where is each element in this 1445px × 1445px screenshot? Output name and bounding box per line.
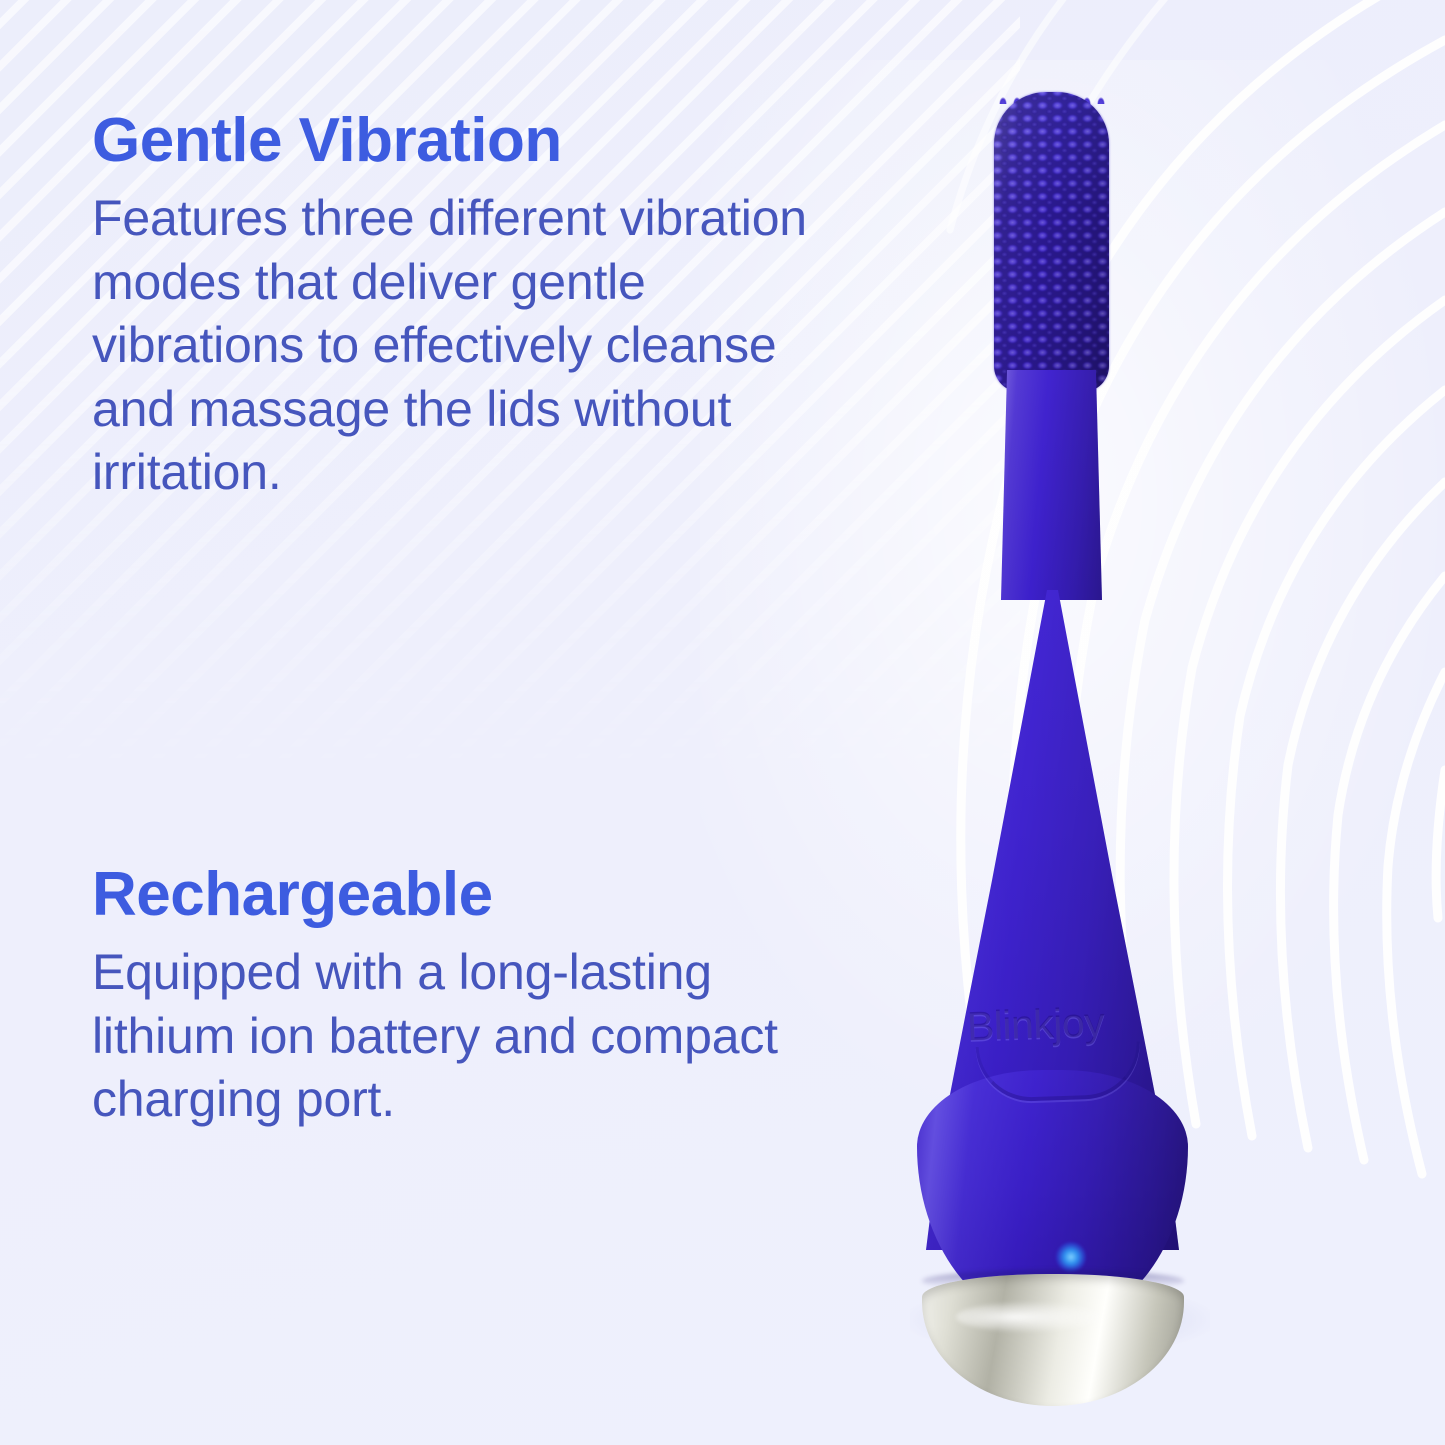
product-feature-infographic: Gentle Vibration Features three differen… [0, 0, 1445, 1445]
brand-logo-smile-icon [976, 1041, 1142, 1103]
brand-logo: Blinkjoy [966, 997, 1160, 1114]
feature-headline-rechargeable: Rechargeable [92, 862, 792, 927]
feature-block-rechargeable: Rechargeable Equipped with a long-lastin… [92, 862, 792, 1132]
chrome-base-highlight [956, 1302, 1106, 1332]
chrome-base-cap [922, 1274, 1184, 1406]
product-image: Blinkjoy [860, 70, 1240, 1400]
feature-body-gentle-vibration: Features three different vibration modes… [92, 187, 837, 505]
feature-block-gentle-vibration: Gentle Vibration Features three differen… [92, 108, 837, 505]
brush-bristle-texture-offset [994, 92, 1109, 392]
charging-led-indicator [1056, 1242, 1086, 1272]
feature-headline-gentle-vibration: Gentle Vibration [92, 108, 837, 173]
product-neck [1001, 370, 1102, 600]
brush-head [994, 92, 1109, 392]
feature-body-rechargeable: Equipped with a long-lasting lithium ion… [92, 941, 792, 1132]
feature-copy-column: Gentle Vibration Features three differen… [92, 0, 852, 1445]
